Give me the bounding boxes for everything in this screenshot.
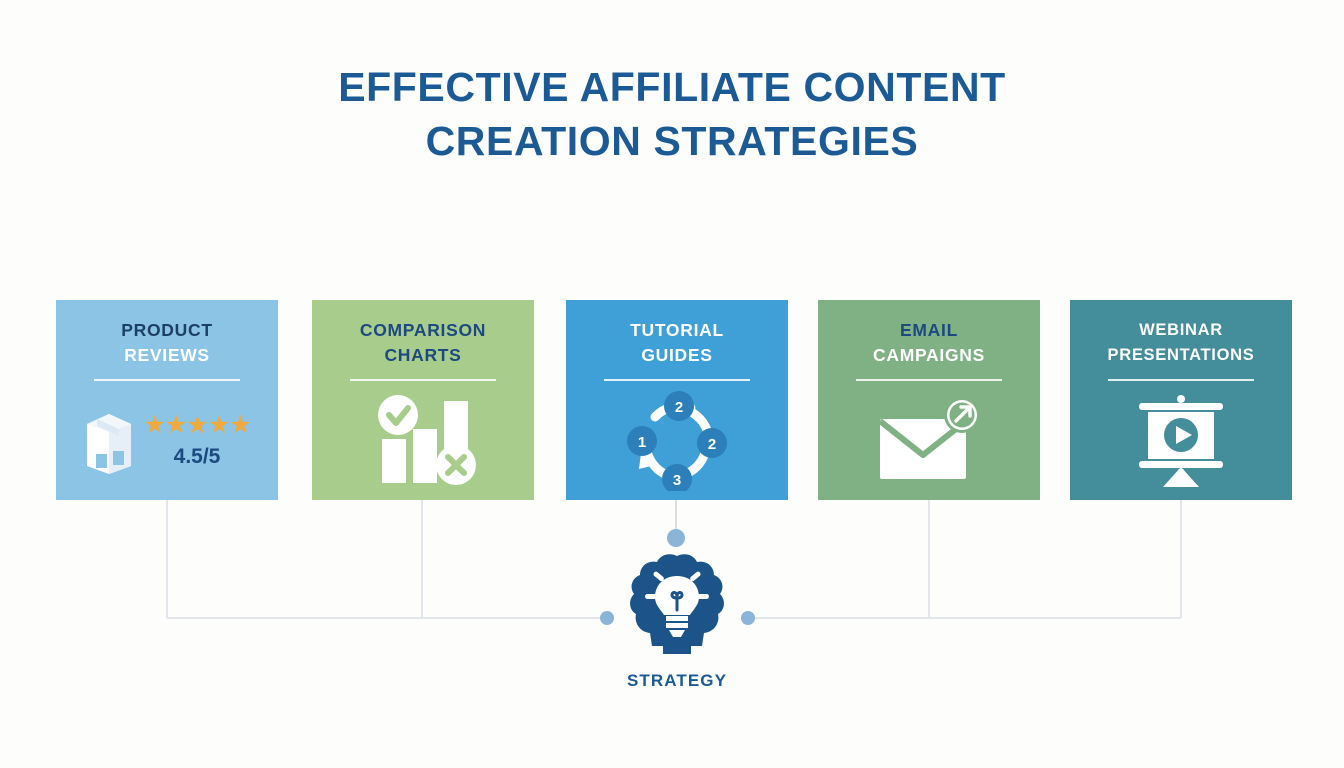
presentation-play-icon [1129, 393, 1233, 489]
brain-lightbulb-icon [622, 550, 732, 660]
package-box-icon [83, 408, 135, 474]
card-title-line-1: EMAIL [818, 318, 1040, 343]
card-divider [350, 379, 496, 381]
card-title: COMPARISON CHARTS [312, 318, 534, 368]
step-label-1: 1 [638, 434, 646, 451]
card-title-line-2: CHARTS [312, 343, 534, 368]
card-divider [856, 379, 1002, 381]
card-icon-area: ★★★★★ 4.5/5 [56, 389, 278, 493]
card-comparison-charts[interactable]: COMPARISON CHARTS [312, 300, 534, 500]
card-title-line-2: CAMPAIGNS [818, 343, 1040, 368]
card-divider [604, 379, 750, 381]
card-divider [94, 379, 240, 381]
step-label-2b: 2 [708, 436, 716, 453]
card-title-line-1: TUTORIAL [566, 318, 788, 343]
card-email-campaigns[interactable]: EMAIL CAMPAIGNS [818, 300, 1040, 500]
card-icon-area: 2 2 3 1 [566, 389, 788, 493]
card-title-line-2: PRESENTATIONS [1070, 343, 1292, 368]
star-rating-icon: ★★★★★ [143, 413, 250, 438]
card-title: EMAIL CAMPAIGNS [818, 318, 1040, 368]
center-node-label: STRATEGY [597, 671, 757, 691]
card-icon-area [1070, 389, 1292, 493]
card-title: WEBINAR PRESENTATIONS [1070, 318, 1292, 368]
card-title-line-2: GUIDES [566, 343, 788, 368]
card-title-line-1: PRODUCT [56, 318, 278, 343]
card-product-reviews[interactable]: PRODUCT REVIEWS ★★★★★ 4.5/5 [56, 300, 278, 500]
card-icon-area [818, 389, 1040, 493]
card-title-line-1: WEBINAR [1070, 318, 1292, 343]
card-title-line-2: REVIEWS [56, 343, 278, 368]
bar-chart-compare-icon [364, 393, 482, 489]
card-title: PRODUCT REVIEWS [56, 318, 278, 368]
center-node-strategy[interactable]: STRATEGY [597, 550, 757, 691]
rating-value: 4.5/5 [143, 445, 250, 469]
step-label-3: 3 [673, 472, 681, 489]
cycle-steps-icon: 2 2 3 1 [625, 391, 729, 491]
infographic-canvas: EFFECTIVE AFFILIATE CONTENT CREATION STR… [0, 0, 1344, 768]
card-icon-area [312, 389, 534, 493]
card-divider [1108, 379, 1254, 381]
card-title-line-1: COMPARISON [312, 318, 534, 343]
card-title: TUTORIAL GUIDES [566, 318, 788, 368]
card-webinar-presentations[interactable]: WEBINAR PRESENTATIONS [1070, 300, 1292, 500]
envelope-send-icon [874, 397, 984, 485]
step-label-2a: 2 [675, 399, 683, 416]
card-tutorial-guides[interactable]: TUTORIAL GUIDES 2 2 3 1 [566, 300, 788, 500]
